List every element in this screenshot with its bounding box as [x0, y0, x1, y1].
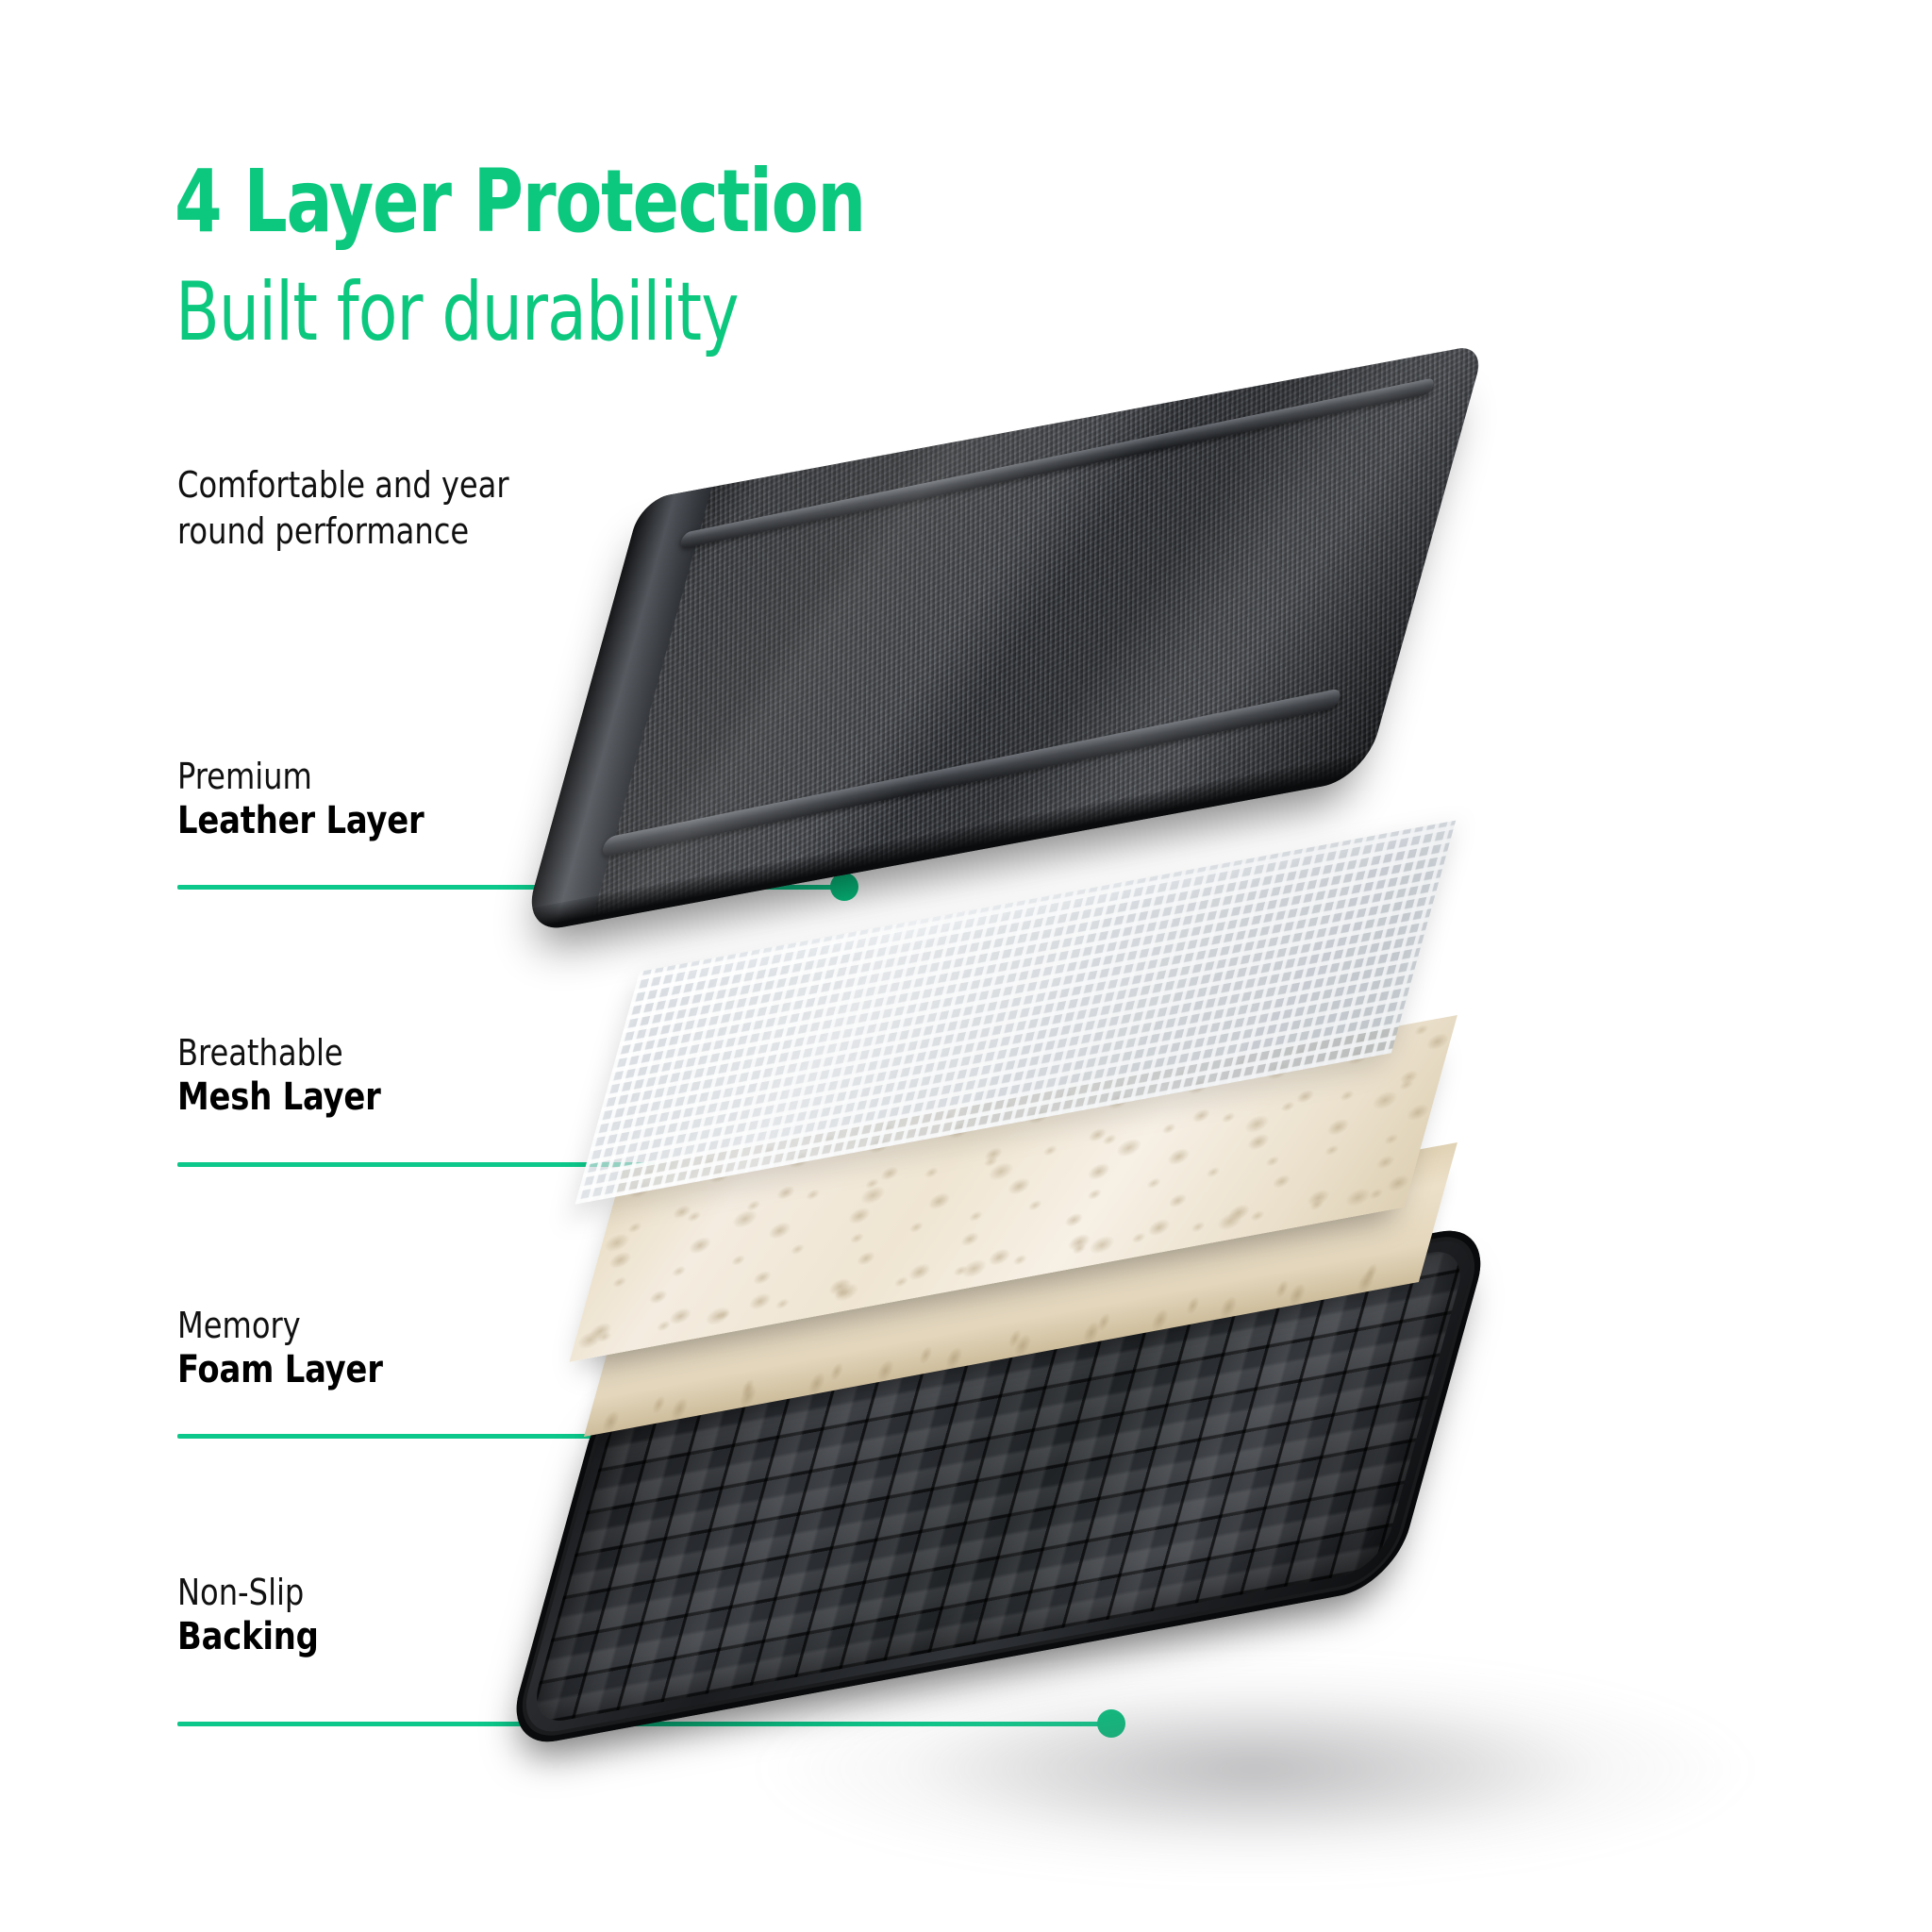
callout-foam-bold: Foam Layer: [177, 1347, 383, 1393]
tagline-text: Comfortable and year round performance: [177, 462, 509, 556]
callout-foam: Memory Foam Layer: [177, 1304, 396, 1393]
callout-leather-bold: Leather Layer: [177, 798, 424, 844]
infographic-canvas: 4 Layer Protection Built for durability …: [0, 0, 1932, 1932]
ground-shadow: [755, 1660, 1755, 1877]
callout-backing-top: Non-Slip: [177, 1571, 319, 1614]
callout-backing: Non-Slip Backing: [177, 1571, 327, 1660]
callout-mesh-bold: Mesh Layer: [177, 1074, 381, 1121]
callout-leather-top: Premium: [177, 755, 424, 798]
page-title: 4 Layer Protection: [175, 158, 865, 245]
page-subtitle: Built for durability: [175, 272, 739, 353]
callout-mesh-top: Breathable: [177, 1031, 381, 1074]
callout-leather: Premium Leather Layer: [177, 755, 440, 844]
callout-foam-top: Memory: [177, 1304, 383, 1347]
callout-backing-bold: Backing: [177, 1614, 319, 1660]
callout-mesh: Breathable Mesh Layer: [177, 1031, 393, 1121]
product-exploded-view: [604, 443, 1924, 1915]
